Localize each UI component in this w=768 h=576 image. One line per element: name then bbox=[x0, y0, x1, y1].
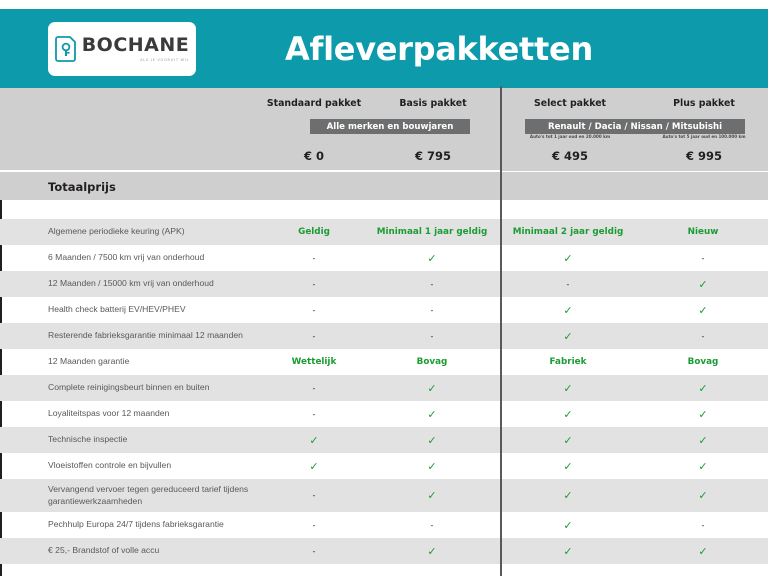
cell-value: ✓ bbox=[498, 408, 638, 421]
cell-value: ✓ bbox=[638, 278, 768, 291]
right-brand-bar: Renault / Dacia / Nissan / Mitsubishi bbox=[525, 119, 745, 134]
cell-value: ✓ bbox=[366, 489, 498, 502]
cell-value: Wettelijk bbox=[262, 357, 366, 367]
table-row: Resterende fabrieksgarantie minimaal 12 … bbox=[0, 323, 768, 349]
feature-label: Loyaliteitspas voor 12 maanden bbox=[2, 408, 262, 419]
cell-value: ✓ bbox=[366, 382, 498, 395]
feature-label: Health check batterij EV/HEV/PHEV bbox=[2, 304, 262, 315]
cell-value: - bbox=[262, 280, 366, 289]
cell-value: Nieuw bbox=[638, 227, 768, 237]
package-group-left: Standaard pakket Basis pakket Alle merke… bbox=[0, 88, 500, 171]
table-row: 12 Maanden / 15000 km vrij van onderhoud… bbox=[0, 271, 768, 297]
cell-value: ✓ bbox=[366, 252, 498, 265]
cell-value: Minimaal 1 jaar geldig bbox=[366, 227, 498, 237]
cell-value: Geldig bbox=[262, 227, 366, 237]
cell-value: ✓ bbox=[366, 434, 498, 447]
cell-value: - bbox=[638, 521, 768, 530]
column-header-basis: Basis pakket bbox=[366, 98, 500, 113]
cell-value: - bbox=[366, 332, 498, 341]
cell-value: - bbox=[366, 306, 498, 315]
table-row: Algemene periodieke keuring (APK)GeldigM… bbox=[0, 219, 768, 245]
price-select: € 495 bbox=[500, 149, 640, 164]
cell-value: - bbox=[638, 332, 768, 341]
cell-value: ✓ bbox=[498, 434, 638, 447]
left-package-names: Standaard pakket Basis pakket bbox=[262, 98, 500, 113]
cell-value: ✓ bbox=[262, 460, 366, 473]
table-row: Complete reinigingsbeurt binnen en buite… bbox=[0, 375, 768, 401]
page-title: Afleverpakketten bbox=[0, 30, 768, 68]
cell-value: - bbox=[262, 521, 366, 530]
left-brand-bar: Alle merken en bouwjaren bbox=[310, 119, 470, 134]
cell-value: ✓ bbox=[498, 330, 638, 343]
total-price-label: Totaalprijs bbox=[48, 180, 116, 194]
group-divider bbox=[500, 245, 502, 271]
subnote-plus: Auto's tot 5 jaar oud en 100.000 km bbox=[640, 134, 768, 139]
table-row: Health check batterij EV/HEV/PHEV--✓✓ bbox=[0, 297, 768, 323]
group-divider bbox=[500, 323, 502, 349]
feature-label: € 25,- Brandstof of volle accu bbox=[2, 545, 262, 556]
feature-label: Vervangend vervoer tegen gereduceerd tar… bbox=[2, 484, 262, 507]
subnote-select: Auto's tot 1 jaar oud en 20.000 km bbox=[500, 134, 640, 139]
price-standaard: € 0 bbox=[262, 149, 366, 164]
cell-value: - bbox=[366, 521, 498, 530]
cell-value: - bbox=[262, 547, 366, 556]
cell-value: ✓ bbox=[498, 545, 638, 558]
feature-label: Resterende fabrieksgarantie minimaal 12 … bbox=[2, 330, 262, 341]
table-row: Technische inspectie✓✓✓✓ bbox=[0, 427, 768, 453]
cell-value: - bbox=[262, 384, 366, 393]
cell-value: Bovag bbox=[638, 357, 768, 367]
cell-value: ✓ bbox=[498, 489, 638, 502]
cell-value: ✓ bbox=[638, 382, 768, 395]
total-price-row: Totaalprijs bbox=[0, 171, 768, 200]
header-banner: BOCHANE ALS JE VOORUIT WIL Afleverpakket… bbox=[0, 9, 768, 88]
group-divider bbox=[500, 349, 502, 375]
table-column-header: Standaard pakket Basis pakket Alle merke… bbox=[0, 88, 768, 171]
group-divider bbox=[500, 219, 502, 245]
group-divider bbox=[500, 171, 502, 200]
cell-value: ✓ bbox=[638, 434, 768, 447]
cell-value: ✓ bbox=[498, 252, 638, 265]
comparison-table: Standaard pakket Basis pakket Alle merke… bbox=[0, 88, 768, 568]
feature-label: Complete reinigingsbeurt binnen en buite… bbox=[2, 382, 262, 393]
group-divider bbox=[500, 453, 502, 479]
cell-value: - bbox=[262, 410, 366, 419]
cell-value: ✓ bbox=[638, 408, 768, 421]
price-basis: € 795 bbox=[366, 149, 500, 164]
cell-value: - bbox=[262, 254, 366, 263]
group-divider bbox=[500, 375, 502, 401]
group-divider bbox=[500, 200, 502, 219]
table-row: 6 Maanden / 7500 km vrij van onderhoud-✓… bbox=[0, 245, 768, 271]
package-group-right: Select pakket Plus pakket Renault / Daci… bbox=[500, 88, 768, 171]
feature-label: Technische inspectie bbox=[2, 434, 262, 445]
cell-value: ✓ bbox=[366, 408, 498, 421]
group-divider bbox=[500, 427, 502, 453]
cell-value: Minimaal 2 jaar geldig bbox=[498, 227, 638, 237]
feature-rows: Algemene periodieke keuring (APK)GeldigM… bbox=[0, 219, 768, 564]
cell-value: - bbox=[638, 254, 768, 263]
group-divider bbox=[500, 401, 502, 427]
cell-value: ✓ bbox=[498, 304, 638, 317]
cell-value: Bovag bbox=[366, 357, 498, 367]
cell-value: ✓ bbox=[638, 460, 768, 473]
cell-value: ✓ bbox=[366, 545, 498, 558]
group-divider bbox=[500, 479, 502, 512]
cell-value: - bbox=[262, 306, 366, 315]
left-prices: € 0 € 795 bbox=[262, 149, 500, 164]
poster-root: BOCHANE ALS JE VOORUIT WIL Afleverpakket… bbox=[0, 0, 768, 576]
feature-label: Vloeistoffen controle en bijvullen bbox=[2, 460, 262, 471]
table-row: Pechhulp Europa 24/7 tijdens fabrieksgar… bbox=[0, 512, 768, 538]
column-header-select: Select pakket bbox=[500, 98, 640, 113]
right-prices: € 495 € 995 bbox=[500, 149, 768, 164]
price-plus: € 995 bbox=[640, 149, 768, 164]
cell-value: - bbox=[366, 280, 498, 289]
feature-label: 12 Maanden / 15000 km vrij van onderhoud bbox=[2, 278, 262, 289]
group-divider bbox=[500, 564, 502, 576]
column-header-plus: Plus pakket bbox=[640, 98, 768, 113]
cell-value: ✓ bbox=[498, 519, 638, 532]
right-subnotes: Auto's tot 1 jaar oud en 20.000 km Auto'… bbox=[500, 134, 768, 139]
cell-value: Fabriek bbox=[498, 357, 638, 367]
table-footer-area bbox=[0, 564, 768, 576]
feature-label: 6 Maanden / 7500 km vrij van onderhoud bbox=[2, 252, 262, 263]
group-divider bbox=[500, 271, 502, 297]
cell-value: ✓ bbox=[638, 489, 768, 502]
header-spacer-row bbox=[0, 200, 768, 219]
group-divider bbox=[500, 538, 502, 564]
group-divider bbox=[500, 297, 502, 323]
cell-value: - bbox=[262, 491, 366, 500]
feature-label: Pechhulp Europa 24/7 tijdens fabrieksgar… bbox=[2, 519, 262, 530]
table-row: Vloeistoffen controle en bijvullen✓✓✓✓ bbox=[0, 453, 768, 479]
cell-value: - bbox=[262, 332, 366, 341]
column-header-standaard: Standaard pakket bbox=[262, 98, 366, 113]
cell-value: - bbox=[498, 280, 638, 289]
feature-label: 12 Maanden garantie bbox=[2, 356, 262, 367]
cell-value: ✓ bbox=[498, 460, 638, 473]
cell-value: ✓ bbox=[498, 382, 638, 395]
cell-value: ✓ bbox=[638, 545, 768, 558]
table-row: Loyaliteitspas voor 12 maanden-✓✓✓ bbox=[0, 401, 768, 427]
cell-value: ✓ bbox=[638, 304, 768, 317]
table-row: 12 Maanden garantieWettelijkBovagFabriek… bbox=[0, 349, 768, 375]
right-package-names: Select pakket Plus pakket bbox=[500, 98, 768, 113]
table-row: € 25,- Brandstof of volle accu-✓✓✓ bbox=[0, 538, 768, 564]
cell-value: ✓ bbox=[366, 460, 498, 473]
group-divider bbox=[500, 512, 502, 538]
table-row: Vervangend vervoer tegen gereduceerd tar… bbox=[0, 479, 768, 512]
cell-value: ✓ bbox=[262, 434, 366, 447]
feature-label: Algemene periodieke keuring (APK) bbox=[2, 226, 262, 237]
